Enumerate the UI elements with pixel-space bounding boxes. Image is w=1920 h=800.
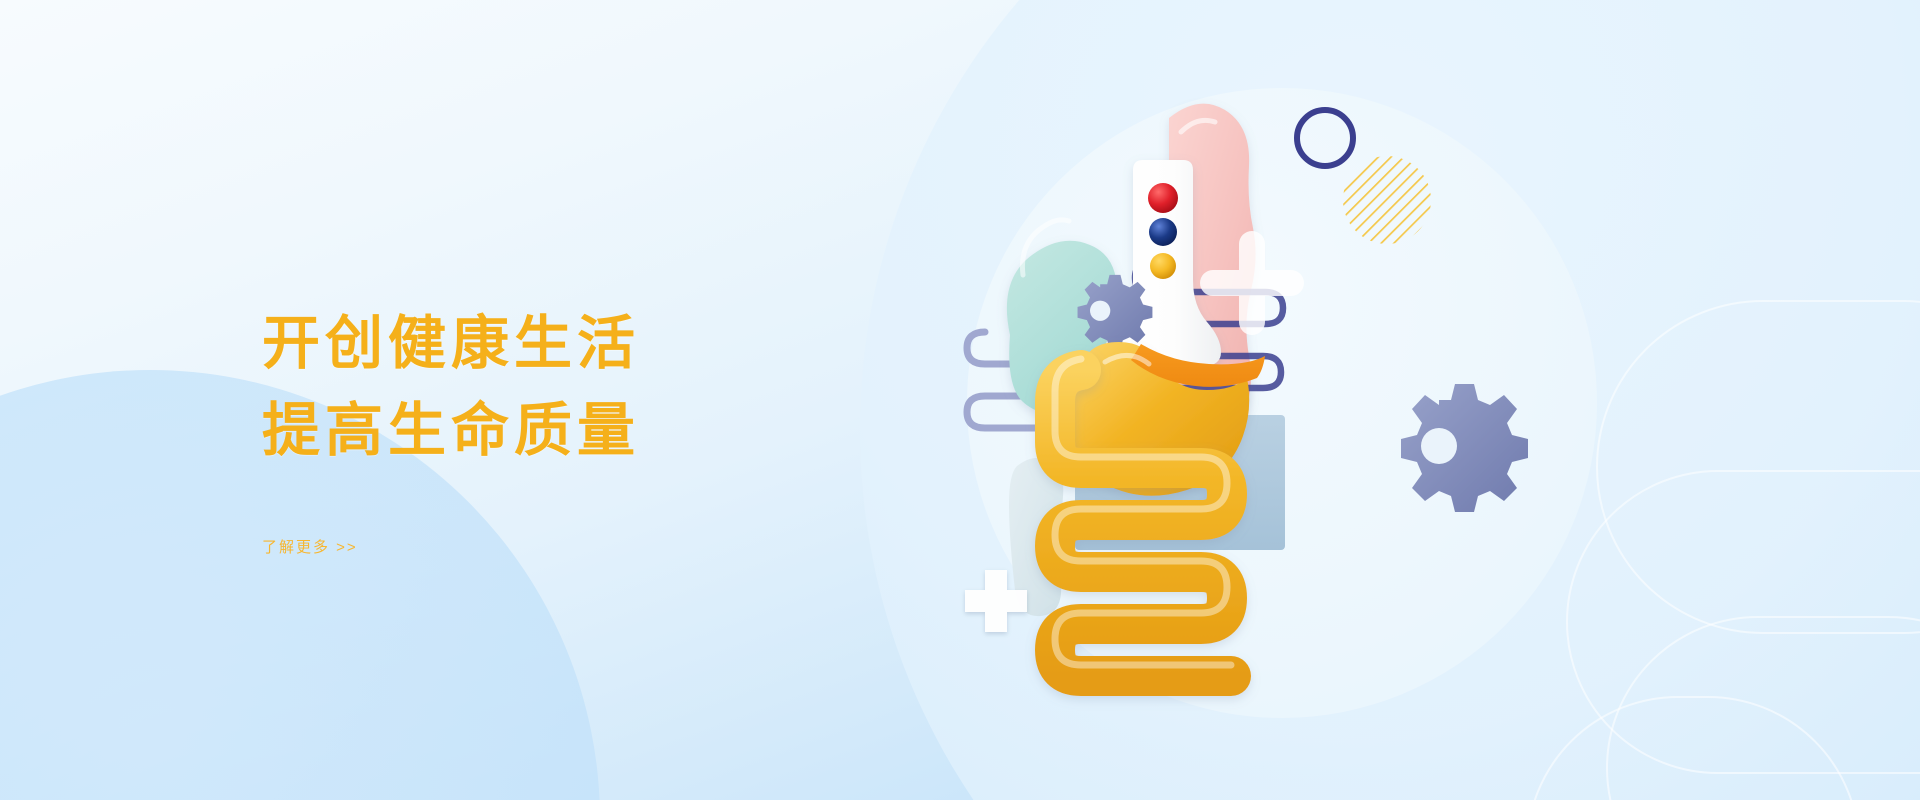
hatched-circle-icon [1335, 148, 1443, 256]
gear-small-icon [1078, 275, 1153, 350]
dot-navy [1149, 218, 1177, 246]
navy-ring-icon [1297, 110, 1353, 166]
hero-banner: 开创健康生活 提高生命质量 了解更多 >> [0, 0, 1920, 800]
headline-line-2: 提高生命质量 [262, 387, 902, 474]
hero-copy: 开创健康生活 提高生命质量 了解更多 >> [262, 300, 902, 557]
digestive-system-illustration [955, 70, 1605, 730]
background-outline-shape [1596, 300, 1920, 634]
illustration-svg [955, 70, 1605, 730]
background-outline-shape [1606, 616, 1920, 800]
dot-yellow [1150, 253, 1176, 279]
gear-large-icon [1401, 384, 1528, 512]
learn-more-link[interactable]: 了解更多 >> [262, 536, 358, 557]
headline-line-1: 开创健康生活 [262, 300, 902, 387]
dot-red [1148, 183, 1178, 213]
background-outline-shape [1566, 470, 1920, 774]
